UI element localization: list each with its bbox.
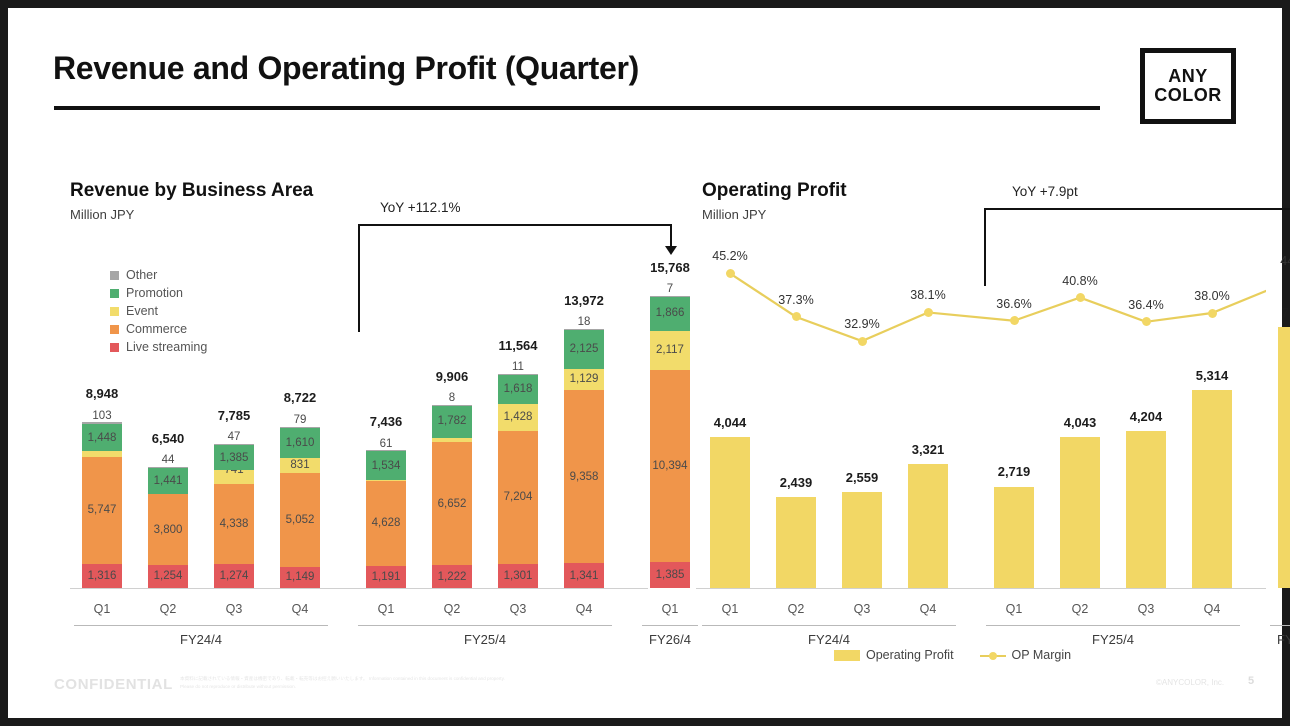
revenue-total-label: 9,906 <box>402 369 502 384</box>
revenue-segment-commerce: 3,800 <box>148 494 188 564</box>
revenue-x-tick-label: Q3 <box>206 602 262 616</box>
op-margin-data-point <box>1010 316 1019 325</box>
operating-profit-bar <box>776 497 816 588</box>
revenue-segment-commerce: 6,652 <box>432 442 472 565</box>
revenue-segment-value: 5,052 <box>286 514 315 526</box>
revenue-x-tick-label: Q4 <box>272 602 328 616</box>
operating-profit-bar <box>1192 390 1232 588</box>
revenue-segment-commerce: 7,204 <box>498 431 538 564</box>
operating-profit-value-label: 3,321 <box>883 442 973 457</box>
revenue-segment-commerce: 4,338 <box>214 484 254 564</box>
revenue-segment-event: 333 <box>82 451 122 457</box>
profit-fiscal-group-label: FY25/4 <box>986 632 1240 647</box>
revenue-segment-live-streaming: 1,191 <box>366 566 406 588</box>
fine-print: 本資料に記載されている情報・資産は機密であり、転載・転売等はお控え願いいたします… <box>180 675 510 692</box>
op-margin-value-label: 45.2% <box>685 249 775 263</box>
revenue-segment-value: 9,358 <box>570 471 599 483</box>
anycolor-logo: ANY COLOR <box>1140 48 1236 124</box>
profit-x-tick-label: Q3 <box>834 602 890 616</box>
legend-line-swatch-icon <box>980 650 1006 661</box>
profit-x-tick-label: Q4 <box>1184 602 1240 616</box>
profit-x-tick-label: Q1 <box>702 602 758 616</box>
profit-legend-label: Operating Profit <box>866 648 954 662</box>
revenue-segment-promotion: 1,782 <box>432 405 472 438</box>
revenue-segment-value: 18 <box>578 316 591 328</box>
revenue-x-tick-label: Q3 <box>490 602 546 616</box>
revenue-segment-other: 79 <box>280 427 320 428</box>
revenue-segment-event: 2,117 <box>650 331 690 370</box>
revenue-segment-value: 1,191 <box>372 571 401 583</box>
revenue-bar-column: 1,38510,3942,1171,8667 <box>650 296 690 588</box>
revenue-segment-value: 79 <box>294 414 307 426</box>
revenue-segment-value: 10,394 <box>652 460 687 472</box>
revenue-segment-value: 1,610 <box>286 437 315 449</box>
revenue-fiscal-group-rule <box>74 625 328 626</box>
revenue-segment-value: 6,652 <box>438 498 467 510</box>
revenue-total-label: 7,436 <box>336 414 436 429</box>
revenue-segment-value: 7,204 <box>504 491 533 503</box>
revenue-segment-value: 1,274 <box>220 570 249 582</box>
revenue-segment-value: 1,222 <box>438 571 467 583</box>
op-margin-data-point <box>726 269 735 278</box>
revenue-segment-live-streaming: 1,385 <box>650 562 690 588</box>
revenue-fiscal-group-label: FY24/4 <box>74 632 328 647</box>
revenue-x-tick-label: Q2 <box>424 602 480 616</box>
revenue-x-tick-label: Q2 <box>140 602 196 616</box>
revenue-x-tick-label: Q1 <box>358 602 414 616</box>
revenue-segment-value: 1,385 <box>656 569 685 581</box>
op-margin-value-label: 36.6% <box>969 297 1059 311</box>
operating-profit-value-label: 7,004 <box>1253 305 1290 320</box>
revenue-segment-value: 44 <box>162 454 175 466</box>
operating-profit-value-label: 4,204 <box>1101 409 1191 424</box>
revenue-segment-live-streaming: 1,149 <box>280 567 320 588</box>
revenue-segment-event: 831 <box>280 458 320 473</box>
profit-fiscal-group-rule <box>986 625 1240 626</box>
op-margin-data-point <box>1076 293 1085 302</box>
operating-profit-value-label: 5,314 <box>1167 368 1257 383</box>
profit-x-tick-label: Q1 <box>1270 602 1290 616</box>
operating-profit-bar <box>908 464 948 588</box>
revenue-segment-value: 1,129 <box>570 373 599 385</box>
revenue-segment-other: 61 <box>366 450 406 451</box>
revenue-bar-column: 1,2744,3387411,38547 <box>214 444 254 588</box>
revenue-segment-value: 1,316 <box>88 570 117 582</box>
revenue-segment-value: 3,800 <box>154 524 183 536</box>
revenue-stacked-bar-chart: 1,3165,7473331,4481038,948Q11,2543,8001,… <box>70 240 648 640</box>
revenue-segment-promotion: 1,534 <box>366 451 406 479</box>
revenue-segment-value: 1,441 <box>154 475 183 487</box>
copyright-notice: ©ANYCOLOR, Inc. <box>1156 678 1224 687</box>
profit-legend-item-op-margin: OP Margin <box>980 648 1072 662</box>
revenue-segment-event: 741 <box>214 470 254 484</box>
operating-profit-bar <box>842 492 882 588</box>
revenue-segment-value: 4,338 <box>220 518 249 530</box>
annotation-text: YoY +112.1% <box>380 200 460 215</box>
revenue-segment-other: 47 <box>214 444 254 445</box>
revenue-segment-value: 2,117 <box>656 344 684 356</box>
profit-legend-label: OP Margin <box>1012 648 1072 662</box>
op-margin-data-point <box>858 337 867 346</box>
profit-x-tick-label: Q2 <box>768 602 824 616</box>
revenue-segment-promotion: 1,866 <box>650 296 690 331</box>
revenue-segment-promotion: 1,618 <box>498 374 538 404</box>
op-margin-data-point <box>1142 317 1151 326</box>
revenue-total-label: 8,948 <box>52 386 152 401</box>
operating-profit-bar <box>710 437 750 588</box>
revenue-segment-value: 831 <box>290 459 309 471</box>
revenue-fiscal-group-label: FY26/4 <box>642 632 698 647</box>
revenue-segment-commerce: 9,358 <box>564 390 604 563</box>
revenue-total-label: 7,785 <box>184 408 284 423</box>
revenue-segment-value: 4,628 <box>372 517 401 529</box>
revenue-segment-value: 103 <box>92 410 111 422</box>
op-margin-value-label: 38.1% <box>883 288 973 302</box>
revenue-segment-value: 1,782 <box>438 415 467 427</box>
revenue-x-tick-label: Q1 <box>74 602 130 616</box>
revenue-total-label: 11,564 <box>468 338 568 353</box>
revenue-segment-live-streaming: 1,254 <box>148 565 188 588</box>
profit-x-tick-label: Q1 <box>986 602 1042 616</box>
revenue-segment-commerce: 5,747 <box>82 457 122 563</box>
revenue-panel-header: Revenue by Business Area Million JPY <box>70 180 313 222</box>
slide: Revenue and Operating Profit (Quarter) A… <box>8 8 1282 718</box>
revenue-segment-value: 2,125 <box>570 343 599 355</box>
revenue-segment-value: 61 <box>380 438 393 450</box>
revenue-segment-value: 5,747 <box>88 504 117 516</box>
revenue-segment-value: 1,534 <box>372 460 401 472</box>
revenue-fiscal-group-label: FY25/4 <box>358 632 612 647</box>
revenue-bar-column: 1,3017,2041,4281,61811 <box>498 374 538 588</box>
profit-fiscal-group-rule <box>1270 625 1290 626</box>
operating-profit-bar <box>1060 437 1100 588</box>
revenue-segment-other: 103 <box>82 422 122 424</box>
revenue-segment-value: 11 <box>512 361 524 373</box>
revenue-segment-value: 8 <box>449 392 455 404</box>
revenue-segment-commerce: 10,394 <box>650 370 690 562</box>
op-margin-value-label: 37.3% <box>751 293 841 307</box>
revenue-bar-column: 1,1495,0528311,61079 <box>280 426 320 588</box>
revenue-segment-value: 1,149 <box>286 571 315 583</box>
operating-profit-bar <box>1126 431 1166 588</box>
annotation-text: YoY +7.9pt <box>1012 184 1078 199</box>
revenue-panel-title: Revenue by Business Area <box>70 180 313 202</box>
revenue-segment-value: 1,301 <box>504 570 533 582</box>
revenue-total-label: 13,972 <box>534 293 634 308</box>
annotation-horizontal-line <box>358 224 670 226</box>
revenue-segment-promotion: 1,610 <box>280 428 320 458</box>
op-margin-data-point <box>792 312 801 321</box>
revenue-total-label: 8,722 <box>250 390 350 405</box>
profit-legend-item-operating-profit: Operating Profit <box>834 648 954 662</box>
operating-profit-bar <box>994 487 1034 589</box>
op-margin-value-label: 32.9% <box>817 317 907 331</box>
revenue-total-label: 6,540 <box>118 431 218 446</box>
revenue-segment-other: 44 <box>148 467 188 468</box>
revenue-bar-column: 1,1914,628211,53461 <box>366 450 406 588</box>
revenue-bar-column: 1,2543,8001,44144 <box>148 467 188 588</box>
confidential-label: CONFIDENTIAL <box>54 676 173 693</box>
op-margin-value-label: 40.8% <box>1035 274 1125 288</box>
legend-bar-swatch-icon <box>834 650 860 661</box>
op-margin-data-point <box>1208 309 1217 318</box>
page-title: Revenue and Operating Profit (Quarter) <box>53 50 639 87</box>
revenue-segment-live-streaming: 1,222 <box>432 565 472 588</box>
logo-line-2: COLOR <box>1154 86 1222 105</box>
revenue-bar-column: 1,3419,3581,1292,12518 <box>564 329 604 588</box>
revenue-segment-promotion: 1,441 <box>148 468 188 495</box>
operating-profit-bar <box>1278 327 1290 588</box>
profit-fiscal-group-label: FY26/4 <box>1270 632 1290 647</box>
profit-fiscal-group-label: FY24/4 <box>702 632 956 647</box>
revenue-segment-live-streaming: 1,341 <box>564 563 604 588</box>
profit-panel-title: Operating Profit <box>702 180 847 202</box>
revenue-segment-value: 1,618 <box>504 383 533 395</box>
operating-profit-value-label: 4,044 <box>685 415 775 430</box>
logo-line-1: ANY <box>1168 67 1208 86</box>
annotation-vertical-line-left <box>358 224 360 332</box>
annotation-vertical-line-right <box>670 224 672 248</box>
profit-x-tick-label: Q3 <box>1118 602 1174 616</box>
revenue-segment-value: 47 <box>228 431 241 443</box>
revenue-segment-promotion: 1,448 <box>82 424 122 451</box>
revenue-segment-value: 1,385 <box>220 452 249 464</box>
revenue-axis-baseline <box>70 588 648 589</box>
revenue-segment-live-streaming: 1,316 <box>82 564 122 588</box>
revenue-panel-unit: Million JPY <box>70 207 313 222</box>
revenue-segment-promotion: 1,385 <box>214 445 254 471</box>
revenue-x-tick-label: Q4 <box>556 602 612 616</box>
profit-panel-unit: Million JPY <box>702 207 847 222</box>
revenue-segment-live-streaming: 1,301 <box>498 564 538 588</box>
op-margin-data-point <box>924 308 933 317</box>
profit-x-tick-label: Q4 <box>900 602 956 616</box>
title-divider <box>54 106 1100 110</box>
revenue-x-tick-label: Q1 <box>642 602 698 616</box>
op-margin-value-label: 38.0% <box>1167 289 1257 303</box>
operating-profit-chart: 4,04445.2%Q12,43937.3%Q22,55932.9%Q33,32… <box>696 240 1266 640</box>
revenue-segment-value: 1,254 <box>154 570 183 582</box>
annotation-arrowhead-icon <box>665 246 677 255</box>
revenue-fiscal-group-rule <box>358 625 612 626</box>
revenue-segment-commerce: 4,628 <box>366 480 406 566</box>
op-margin-value-label: 44.4% <box>1253 254 1290 268</box>
revenue-bar-column: 1,3165,7473331,448103 <box>82 422 122 588</box>
profit-legend: Operating ProfitOP Margin <box>834 648 1071 662</box>
revenue-segment-live-streaming: 1,274 <box>214 564 254 588</box>
revenue-segment-value: 7 <box>667 283 673 295</box>
revenue-segment-event: 242 <box>432 438 472 442</box>
revenue-segment-value: 1,341 <box>570 570 599 582</box>
revenue-segment-commerce: 5,052 <box>280 473 320 567</box>
operating-profit-value-label: 2,559 <box>817 470 907 485</box>
revenue-segment-value: 1,448 <box>88 432 117 444</box>
annotation-vertical-line-left <box>984 208 986 286</box>
profit-x-tick-label: Q2 <box>1052 602 1108 616</box>
revenue-segment-promotion: 2,125 <box>564 330 604 369</box>
revenue-segment-event: 1,129 <box>564 369 604 390</box>
revenue-segment-event: 1,428 <box>498 404 538 430</box>
profit-panel-header: Operating Profit Million JPY <box>702 180 847 222</box>
revenue-bar-column: 1,2226,6522421,7828 <box>432 405 472 588</box>
revenue-segment-value: 1,428 <box>504 411 533 423</box>
annotation-horizontal-line <box>984 208 1290 210</box>
page-number: 5 <box>1248 675 1254 687</box>
revenue-segment-value: 1,866 <box>656 307 685 319</box>
profit-fiscal-group-rule <box>702 625 956 626</box>
revenue-fiscal-group-rule <box>642 625 698 626</box>
operating-profit-value-label: 2,719 <box>969 464 1059 479</box>
